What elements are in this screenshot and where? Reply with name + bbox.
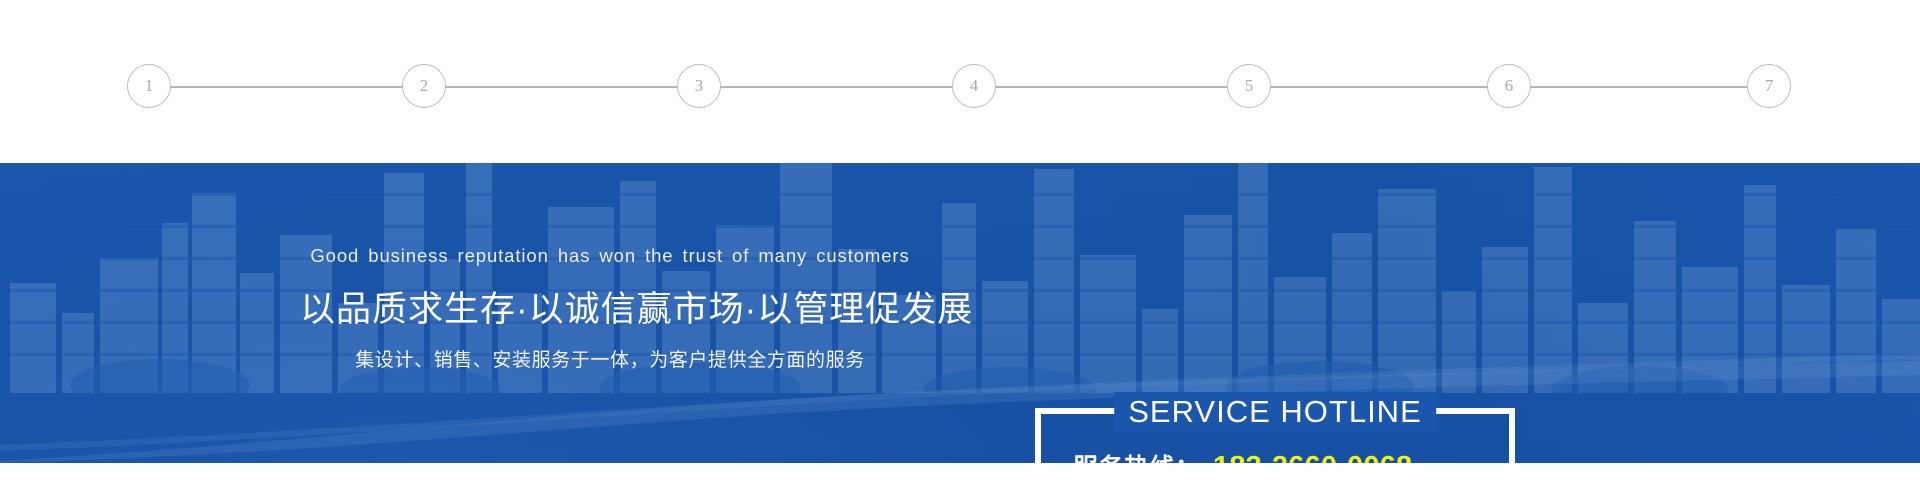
slogan-block: Good business reputation has won the tru… [300,245,920,372]
pagination-item-3[interactable]: 3 [677,64,721,108]
road-illustration [0,353,1920,463]
service-hotline-rows: 服务热线： 183-2660-0068 服务热线： 0551-63749777 [1041,448,1509,463]
pagination-item-2[interactable]: 2 [402,64,446,108]
pagination-bar: 1 2 3 4 5 6 7 [0,0,1920,163]
pagination-item-7[interactable]: 7 [1747,64,1791,108]
pagination-item-6[interactable]: 6 [1487,64,1531,108]
slogan-chinese-sub: 集设计、销售、安装服务于一体，为客户提供全方面的服务 [300,345,920,372]
service-hotline-title: SERVICE HOTLINE [1114,392,1436,432]
promo-banner: Good business reputation has won the tru… [0,163,1920,463]
service-hotline-box: SERVICE HOTLINE 服务热线： 183-2660-0068 服务热线… [1035,408,1515,463]
pagination-item-1[interactable]: 1 [127,64,171,108]
slogan-english: Good business reputation has won the tru… [300,245,920,267]
hotline-number-mobile[interactable]: 183-2660-0068 [1213,451,1412,463]
hotline-row-primary: 服务热线： 183-2660-0068 [1041,448,1509,463]
hotline-label: 服务热线： [1073,448,1213,463]
slogan-chinese-main: 以品质求生存·以诚信赢市场·以管理促发展 [300,281,920,332]
pagination-item-4[interactable]: 4 [952,64,996,108]
pagination-item-5[interactable]: 5 [1227,64,1271,108]
